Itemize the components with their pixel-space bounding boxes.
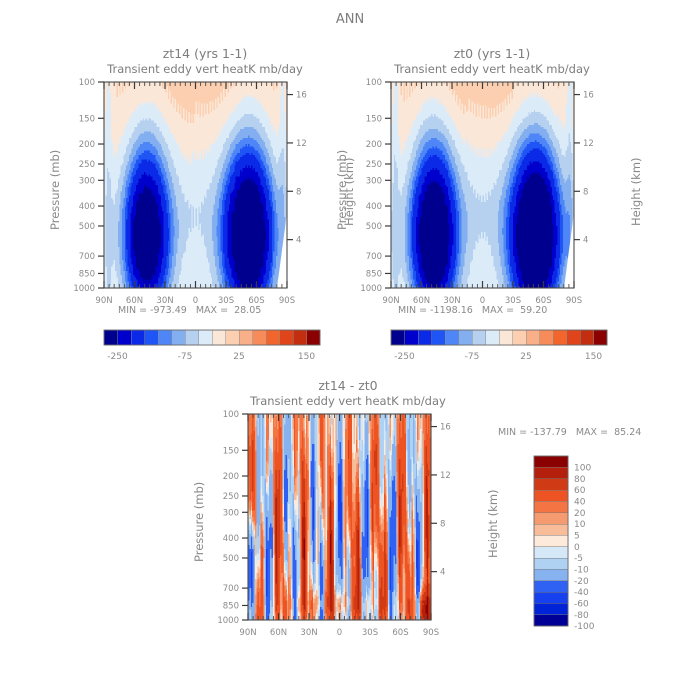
colorbar-tick-label: 150 — [298, 352, 315, 362]
colorbar-swatch — [534, 581, 568, 593]
colorbar-swatch — [594, 330, 608, 345]
colorbar-swatch — [534, 547, 568, 559]
colorbar-tick-label: -250 — [394, 352, 415, 362]
colorbar-swatch — [534, 490, 568, 502]
max-label-diff: MAX = — [576, 427, 608, 438]
y-tick-label: 400 — [223, 534, 239, 544]
colorbar-tick-label: -100 — [574, 622, 595, 632]
colorbar-swatch — [540, 330, 554, 345]
x-tick-label: 60S — [392, 628, 408, 638]
colorbar-swatch — [534, 524, 568, 536]
y2-tick-label: 8 — [583, 187, 588, 197]
colorbar-tick-label: 150 — [585, 352, 602, 362]
colorbar-swatch — [486, 330, 500, 345]
min-label-diff: MIN = — [498, 427, 527, 438]
y-tick-label: 850 — [223, 601, 239, 611]
y2-tick-label: 16 — [440, 423, 451, 433]
colorbar-swatch — [212, 330, 226, 345]
colorbar-swatch — [199, 330, 213, 345]
colorbar-diff[interactable]: 100806040201050-5-10-20-40-60-80-100 — [530, 452, 660, 642]
colorbar-tick-label: -20 — [574, 577, 589, 587]
colorbar-swatch — [432, 330, 446, 345]
colorbar-swatch — [534, 467, 568, 479]
y-tick-label: 1000 — [360, 284, 382, 294]
colorbar-tick-label: 25 — [520, 352, 531, 362]
y-tick-label: 200 — [79, 140, 95, 150]
max-value-zt0: 59.20 — [520, 305, 547, 316]
y-tick-label: 150 — [79, 114, 95, 124]
minmax-zt0: MIN = -1198.16 MAX = 59.20 — [398, 305, 547, 316]
x-tick-label: 30N — [300, 628, 317, 638]
y-tick-label: 100 — [366, 78, 382, 88]
colorbar-swatch — [118, 330, 132, 345]
colorbar-swatch — [534, 535, 568, 547]
y-tick-label: 700 — [79, 252, 95, 262]
y2-axis-label-diff: Height (km) — [486, 489, 500, 558]
colorbar-swatch — [145, 330, 159, 345]
minmax-zt14: MIN = -973.49 MAX = 28.05 — [118, 305, 261, 316]
y2-tick-label: 12 — [583, 139, 594, 149]
colorbar-swatch — [239, 330, 253, 345]
minmax-diff: MIN = -137.79 MAX = 85.24 — [498, 427, 641, 438]
colorbar-tick-label: -75 — [178, 352, 193, 362]
colorbar-swatch — [445, 330, 459, 345]
y-tick-label: 300 — [79, 176, 95, 186]
colorbar-swatch — [534, 592, 568, 604]
y-tick-label: 200 — [223, 472, 239, 482]
colorbar-swatch — [513, 330, 527, 345]
colorbar-zt14[interactable]: -250-7525150 — [98, 328, 328, 368]
x-tick-label: 90S — [566, 296, 582, 306]
y-tick-label: 300 — [366, 176, 382, 186]
colorbar-swatch — [131, 330, 145, 345]
y2-tick-label: 4 — [583, 236, 588, 246]
colorbar-tick-label: -10 — [574, 566, 589, 576]
colorbar-swatch — [534, 558, 568, 570]
y-tick-label: 500 — [366, 222, 382, 232]
colorbar-swatch — [280, 330, 294, 345]
y-tick-label: 200 — [366, 140, 382, 150]
colorbar-swatch — [526, 330, 540, 345]
y-tick-label: 700 — [366, 252, 382, 262]
colorbar-tick-label: -40 — [574, 588, 589, 598]
colorbar-swatch — [104, 330, 118, 345]
y-tick-label: 400 — [79, 202, 95, 212]
y-tick-label: 1000 — [217, 616, 239, 626]
x-tick-label: 90N — [239, 628, 256, 638]
y-tick-label: 500 — [79, 222, 95, 232]
x-tick-label: 0 — [337, 628, 342, 638]
colorbar-tick-label: -60 — [574, 600, 589, 610]
figure-suptitle: ANN — [336, 12, 364, 27]
colorbar-tick-label: -250 — [107, 352, 128, 362]
colorbar-swatch — [534, 501, 568, 513]
colorbar-swatch — [226, 330, 240, 345]
colorbar-tick-label: 100 — [574, 464, 591, 474]
plot-area-zt14: 90N60N30N030S60S90S100150200250300400500… — [0, 60, 320, 320]
y-tick-label: 150 — [366, 114, 382, 124]
colorbar-tick-label: -80 — [574, 611, 589, 621]
plot-area-diff: 90N60N30N030S60S90S100150200250300400500… — [144, 392, 464, 652]
x-tick-label: 90N — [95, 296, 112, 306]
colorbar-swatch — [534, 456, 568, 468]
colorbar-tick-label: 40 — [574, 498, 586, 508]
y-tick-label: 700 — [223, 584, 239, 594]
colorbar-swatch — [418, 330, 432, 345]
colorbar-swatch — [405, 330, 419, 345]
y-tick-label: 100 — [223, 410, 239, 420]
colorbar-tick-label: -5 — [574, 554, 583, 564]
y-tick-label: 1000 — [73, 284, 95, 294]
colorbar-swatch — [172, 330, 186, 345]
colorbar-tick-label: -75 — [465, 352, 480, 362]
y-tick-label: 250 — [366, 160, 382, 170]
colorbar-swatch — [499, 330, 513, 345]
min-value-diff: -137.79 — [530, 427, 567, 438]
y-tick-label: 400 — [366, 202, 382, 212]
min-label-zt14: MIN = — [118, 305, 147, 316]
y-tick-label: 150 — [223, 446, 239, 456]
y-tick-label: 850 — [366, 269, 382, 279]
colorbar-swatch — [459, 330, 473, 345]
colorbar-swatch — [185, 330, 199, 345]
x-tick-label: 30S — [362, 628, 378, 638]
colorbar-swatch — [293, 330, 307, 345]
y2-tick-label: 16 — [583, 91, 594, 101]
colorbar-swatch — [266, 330, 280, 345]
min-label-zt0: MIN = — [398, 305, 427, 316]
colorbar-swatch — [253, 330, 267, 345]
colorbar-swatch — [580, 330, 594, 345]
max-value-diff: 85.24 — [614, 427, 641, 438]
panel-title-diff: zt14 - zt0 — [318, 378, 377, 393]
x-tick-label: 60N — [270, 628, 287, 638]
y2-tick-label: 8 — [440, 519, 445, 529]
colorbar-swatch — [534, 479, 568, 491]
panel-title-zt14: zt14 (yrs 1-1) — [163, 46, 248, 61]
figure-canvas: ANN zt14 (yrs 1-1) Transient eddy vert h… — [0, 0, 700, 700]
colorbar-swatch — [534, 569, 568, 581]
colorbar-swatch — [472, 330, 486, 345]
y-tick-label: 100 — [79, 78, 95, 88]
max-label-zt14: MAX = — [196, 305, 228, 316]
plot-area-zt0: 90N60N30N030S60S90S100150200250300400500… — [287, 60, 607, 320]
colorbar-swatch — [534, 603, 568, 615]
colorbar-swatch — [391, 330, 405, 345]
y2-tick-label: 12 — [440, 471, 451, 481]
panel-title-zt0: zt0 (yrs 1-1) — [454, 46, 531, 61]
max-label-zt0: MAX = — [482, 305, 514, 316]
y-tick-label: 300 — [223, 508, 239, 518]
max-value-zt14: 28.05 — [234, 305, 261, 316]
colorbar-tick-label: 60 — [574, 486, 586, 496]
colorbar-swatch — [567, 330, 581, 345]
y2-tick-label: 4 — [440, 568, 445, 578]
min-value-zt0: -1198.16 — [430, 305, 473, 316]
y-tick-label: 850 — [79, 269, 95, 279]
colorbar-tick-label: 80 — [574, 475, 586, 485]
colorbar-tick-label: 0 — [574, 543, 580, 553]
colorbar-swatch — [534, 615, 568, 627]
colorbar-tick-label: 5 — [574, 532, 580, 542]
colorbar-swatch — [534, 513, 568, 525]
colorbar-tick-label: 20 — [574, 509, 586, 519]
colorbar-tick-label: 10 — [574, 520, 586, 530]
colorbar-swatch — [307, 330, 321, 345]
y2-axis-label-zt0: Height (km) — [629, 157, 643, 226]
y-tick-label: 250 — [79, 160, 95, 170]
colorbar-swatch — [158, 330, 172, 345]
x-tick-label: 90S — [423, 628, 439, 638]
colorbar-swatch — [553, 330, 567, 345]
y-tick-label: 500 — [223, 554, 239, 564]
colorbar-tick-label: 25 — [233, 352, 244, 362]
min-value-zt14: -973.49 — [150, 305, 187, 316]
y-tick-label: 250 — [223, 492, 239, 502]
colorbar-zt0[interactable]: -250-7525150 — [385, 328, 615, 368]
